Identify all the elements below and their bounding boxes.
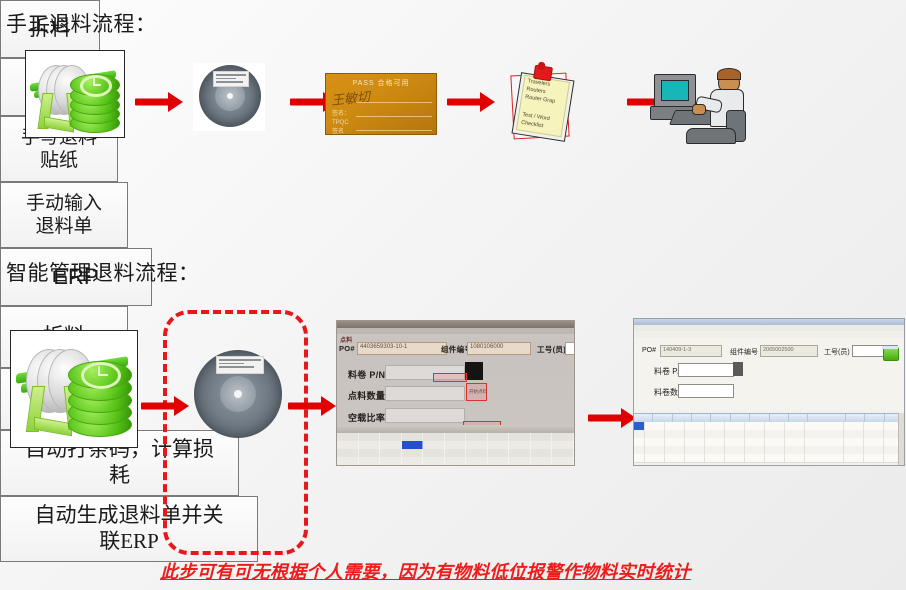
manual-step-caption-4: 手动输入 退料单 [0, 182, 128, 248]
shot1-value-po: 4403659303-10-1 [360, 344, 407, 350]
section-title-manual: 手工退料流程： [6, 8, 157, 38]
shot1-value-assembly: 1080106000 [470, 344, 503, 350]
shot2-value-po: 140409-1-3 [663, 347, 691, 353]
optional-step-note: 此步可有可无根据个人需要，因为有物料低位报警作物料实时统计 [160, 558, 691, 584]
shot2-green-action-button[interactable] [883, 347, 899, 361]
wafer-disc-photo-1 [193, 63, 265, 131]
caption-line-2: 耗 [109, 463, 130, 489]
sticker-header: PASS 合格可用 [326, 78, 436, 88]
caption-line-2: 退料单 [35, 215, 92, 238]
reel-stack-icon [25, 50, 125, 138]
flow-arrow-7 [588, 408, 636, 428]
caption-line-1: 手动输入 [26, 192, 102, 215]
section-title-smart: 智能管理退料流程： [6, 257, 200, 287]
shot1-label-po: PO# [339, 344, 355, 353]
person-at-computer-icon [648, 62, 758, 148]
caption-line-2: 贴纸 [40, 149, 78, 172]
flow-arrow-3 [447, 92, 495, 112]
pass-sticker-photo: PASS 合格可用 王敏切 签名： TPQC 签名 [325, 73, 437, 135]
flow-arrow-1 [135, 92, 183, 112]
shot2-label-po: PO# [642, 347, 656, 354]
slide-canvas: 手工退料流程： 拆料 [0, 0, 906, 590]
shot2-value-assembly: 2065002500 [763, 347, 794, 353]
shot1-label-reel-pn: 料卷 P/N [348, 368, 385, 381]
reel-stack-icon-2 [10, 330, 138, 448]
shot2-label-worker: 工号(员) [824, 347, 850, 357]
shot1-label-idle-rate: 空载比率 [348, 411, 385, 424]
shot1-label-worker: 工号(员) [537, 344, 566, 355]
flow-arrow-5 [141, 396, 189, 416]
clipboard-icon: Travelers Routers Router Grap Test / Wor… [500, 60, 586, 144]
shot2-label-assembly: 组件编号 [730, 347, 758, 357]
caption-line-2: 联ERP [99, 529, 159, 555]
shot1-button-label[interactable]: 开始点料 [469, 389, 487, 395]
sticker-tpqc-sign-label: 签名 [332, 126, 344, 135]
sticker-handwriting: 王敏切 [330, 86, 371, 109]
flow-arrow-6 [288, 396, 336, 416]
shot1-label-count: 点料数量 [348, 389, 385, 402]
erp-software-screenshot: PO# 140409-1-3 组件编号 2065002500 工号(员) 料卷 … [633, 318, 905, 466]
shot1-window-title: 点料 [340, 335, 353, 344]
wafer-disc-photo-2 [190, 348, 286, 440]
sticker-sign-label: 签名： [332, 108, 350, 117]
barcode-software-screenshot: 点料 PO# 4403659303-10-1 组件编号 1080106000 工… [336, 320, 575, 466]
